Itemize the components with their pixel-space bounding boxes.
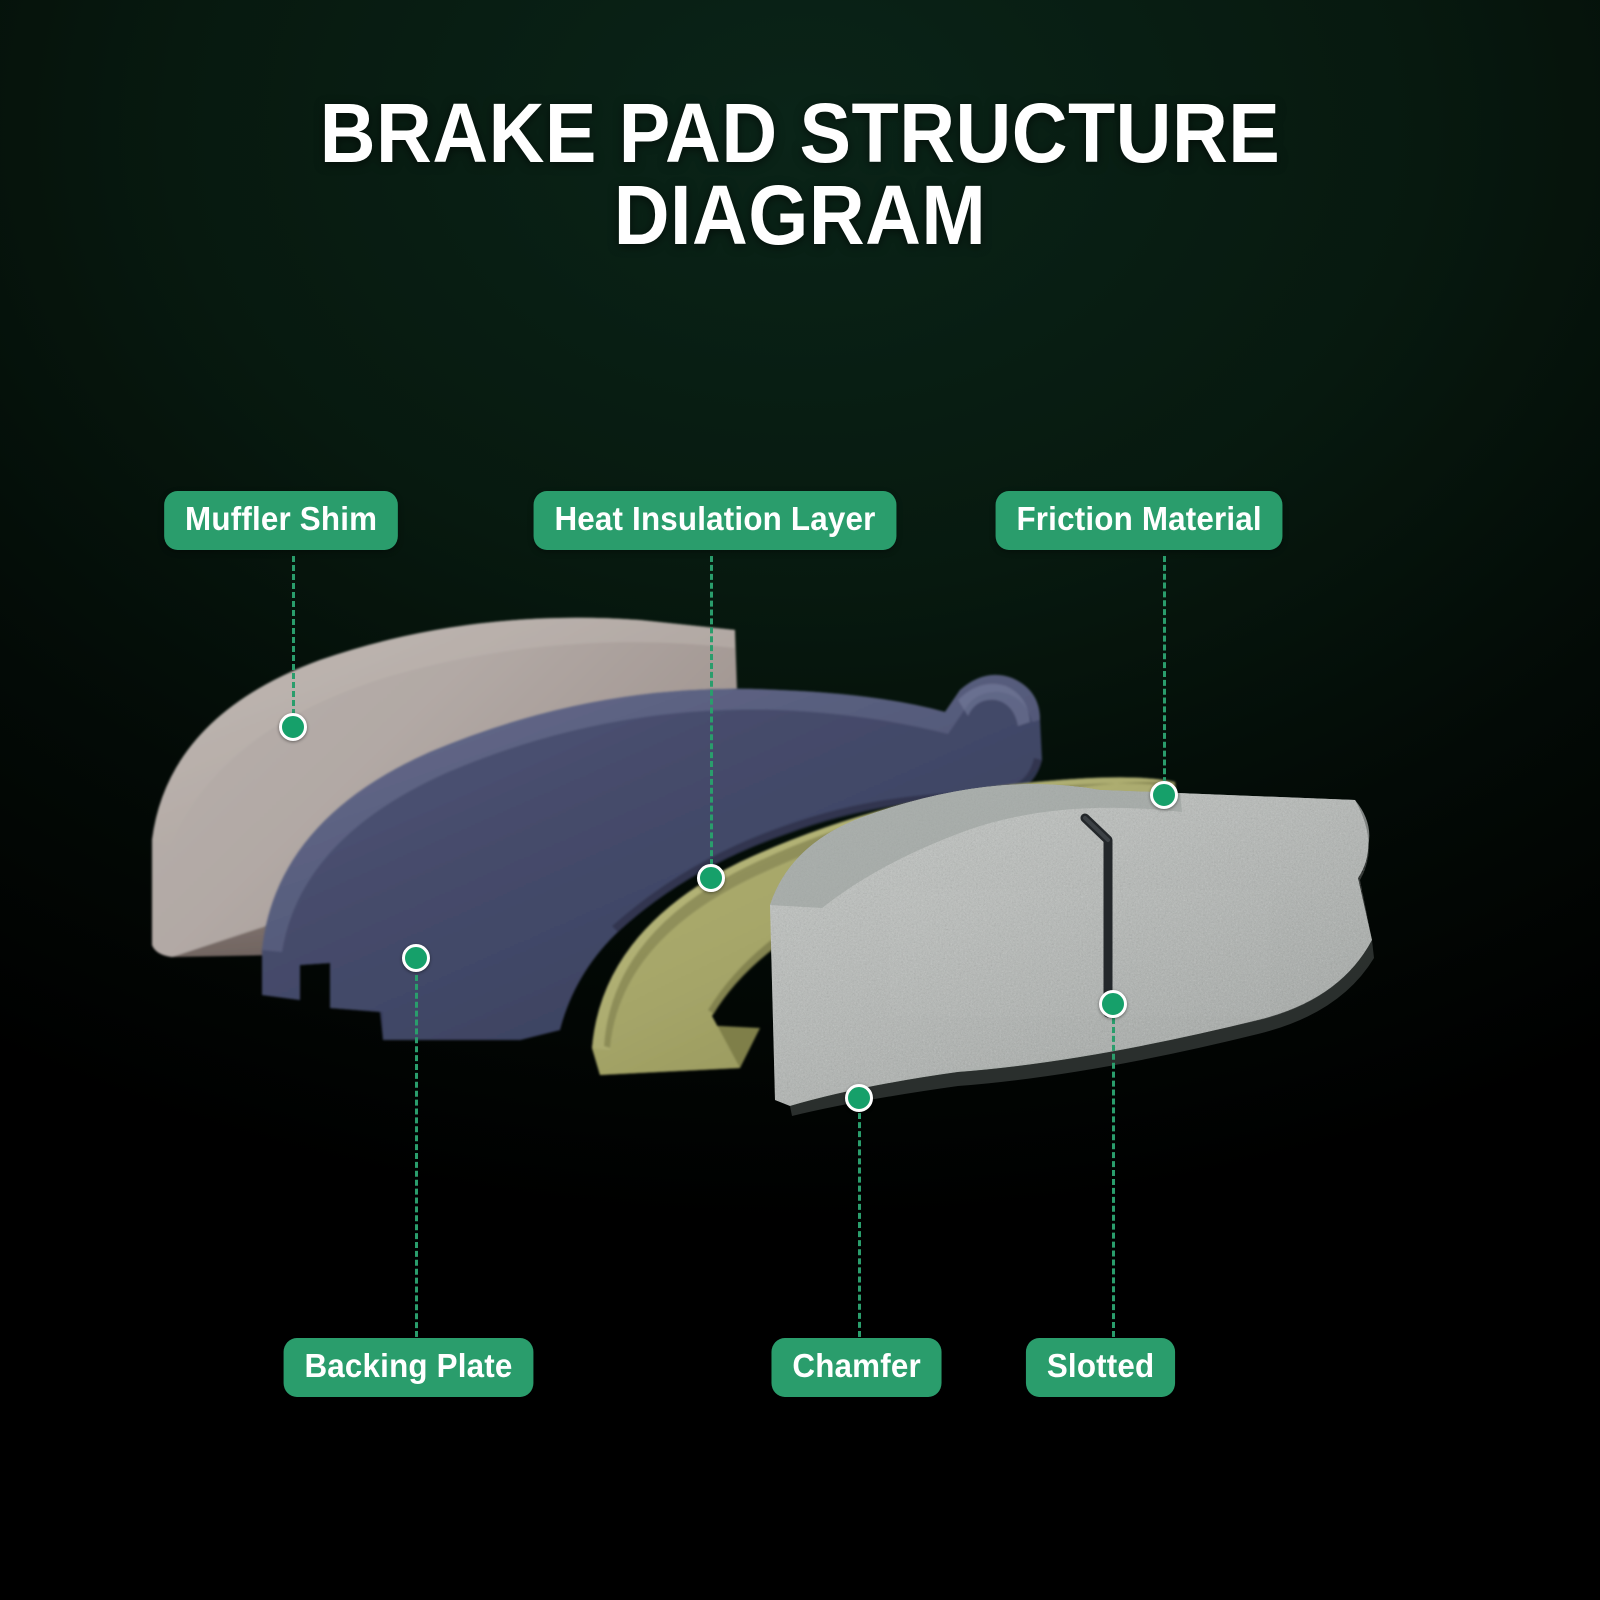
leader-line-backing-plate xyxy=(415,975,418,1337)
leader-line-heat-insulation xyxy=(710,556,713,874)
diagram-canvas: BRAKE PAD STRUCTURE DIAGRAM xyxy=(0,0,1600,1600)
dot-chamfer xyxy=(845,1084,873,1112)
title-line-1: BRAKE PAD STRUCTURE xyxy=(64,92,1536,174)
title-line-2: DIAGRAM xyxy=(64,174,1536,256)
dot-backing-plate xyxy=(402,944,430,972)
callout-chamfer[interactable]: Chamfer xyxy=(771,1338,941,1397)
callout-heat-insulation-layer[interactable]: Heat Insulation Layer xyxy=(534,491,897,550)
dot-friction-material xyxy=(1150,781,1178,809)
leader-line-slotted xyxy=(1112,1018,1115,1337)
leader-line-muffler-shim xyxy=(292,556,295,724)
dot-slotted xyxy=(1099,990,1127,1018)
callout-slotted[interactable]: Slotted xyxy=(1026,1338,1175,1397)
leader-line-chamfer xyxy=(858,1113,861,1337)
dot-muffler-shim xyxy=(279,713,307,741)
callout-backing-plate[interactable]: Backing Plate xyxy=(284,1338,534,1397)
leader-line-friction-material xyxy=(1163,556,1166,792)
callout-friction-material[interactable]: Friction Material xyxy=(996,491,1283,550)
page-title: BRAKE PAD STRUCTURE DIAGRAM xyxy=(0,92,1600,257)
callout-muffler-shim[interactable]: Muffler Shim xyxy=(164,491,398,550)
dot-heat-insulation xyxy=(697,864,725,892)
